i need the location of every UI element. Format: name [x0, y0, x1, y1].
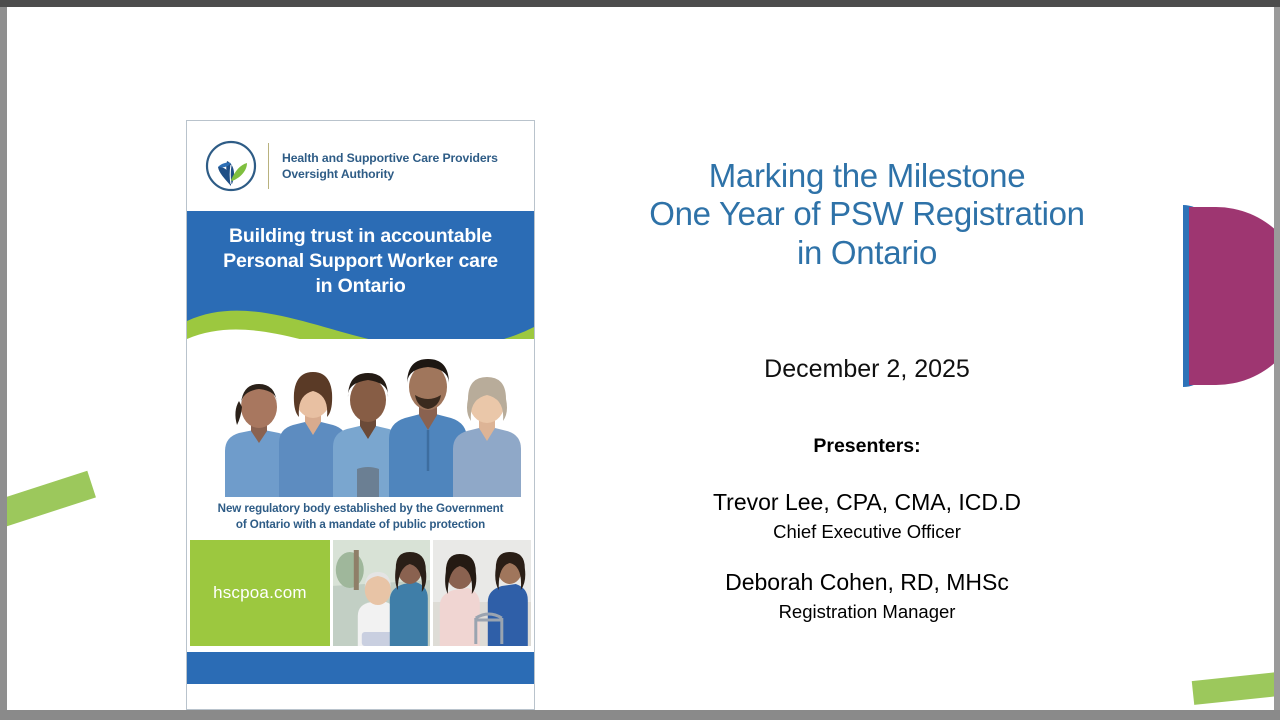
logo-divider	[268, 143, 269, 189]
psw-team-photo-illustration	[187, 339, 534, 497]
presentation-date: December 2, 2025	[567, 355, 1167, 384]
brochure-cover-image: Health and Supportive Care Providers Ove…	[186, 120, 535, 710]
slide-title-line-2: One Year of PSW Registration	[567, 195, 1167, 233]
presenters-heading: Presenters:	[567, 435, 1167, 458]
brochure-group-photo	[187, 339, 534, 497]
headline-line-1: Building trust in accountable	[195, 224, 526, 249]
presenter-entry: Trevor Lee, CPA, CMA, ICD.D Chief Execut…	[567, 489, 1167, 545]
magenta-semicircle-decoration	[1189, 207, 1274, 385]
brochure-headline-text: Building trust in accountable Personal S…	[187, 224, 534, 299]
hscpoa-trillium-logo-icon	[205, 140, 257, 192]
presenter-name: Deborah Cohen, RD, MHSc	[567, 569, 1167, 597]
caption-line-1: New regulatory body established by the G…	[201, 501, 520, 517]
player-frame-bottom-bar	[0, 710, 1280, 720]
brochure-logo-header: Health and Supportive Care Providers Ove…	[187, 121, 534, 211]
brochure-website-box: hscpoa.com	[190, 540, 330, 646]
caregiver-wheelchair-illustration	[333, 540, 431, 646]
presenter-name: Trevor Lee, CPA, CMA, ICD.D	[567, 489, 1167, 517]
presenter-role: Chief Executive Officer	[567, 519, 1167, 546]
headline-line-2: Personal Support Worker care	[195, 249, 526, 274]
presenter-entry: Deborah Cohen, RD, MHSc Registration Man…	[567, 569, 1167, 625]
organization-name-line-1: Health and Supportive Care Providers	[282, 150, 498, 166]
organization-name: Health and Supportive Care Providers Ove…	[282, 150, 498, 182]
green-diagonal-band-bottom-right-decoration	[1192, 669, 1274, 705]
headline-line-3: in Ontario	[195, 274, 526, 299]
brochure-photo-caregiver-walker	[433, 540, 531, 646]
green-diagonal-band-left-decoration	[7, 471, 96, 532]
brochure-photo-caregiver-wheelchair	[333, 540, 431, 646]
brochure-headline-banner: Building trust in accountable Personal S…	[187, 211, 534, 339]
presenter-role: Registration Manager	[567, 599, 1167, 626]
brochure-website-url: hscpoa.com	[213, 583, 307, 603]
brochure-bottom-row: hscpoa.com	[187, 540, 534, 646]
slide-title-line-3: in Ontario	[567, 234, 1167, 272]
slide-content-column: Marking the Milestone One Year of PSW Re…	[567, 7, 1167, 710]
video-player-viewport: Health and Supportive Care Providers Ove…	[0, 0, 1280, 720]
player-frame-left-bar	[0, 7, 7, 710]
organization-name-line-2: Oversight Authority	[282, 166, 498, 182]
brochure-footer-bar	[187, 652, 534, 684]
player-frame-right-bar	[1274, 7, 1280, 710]
caption-line-2: of Ontario with a mandate of public prot…	[201, 517, 520, 533]
green-wave-decoration	[187, 295, 534, 339]
slide-title: Marking the Milestone One Year of PSW Re…	[567, 157, 1167, 272]
caregiver-walker-illustration	[433, 540, 531, 646]
brochure-caption: New regulatory body established by the G…	[187, 497, 534, 540]
player-frame-top-bar	[0, 0, 1280, 7]
slide-title-line-1: Marking the Milestone	[567, 157, 1167, 195]
presentation-slide: Health and Supportive Care Providers Ove…	[7, 7, 1274, 710]
